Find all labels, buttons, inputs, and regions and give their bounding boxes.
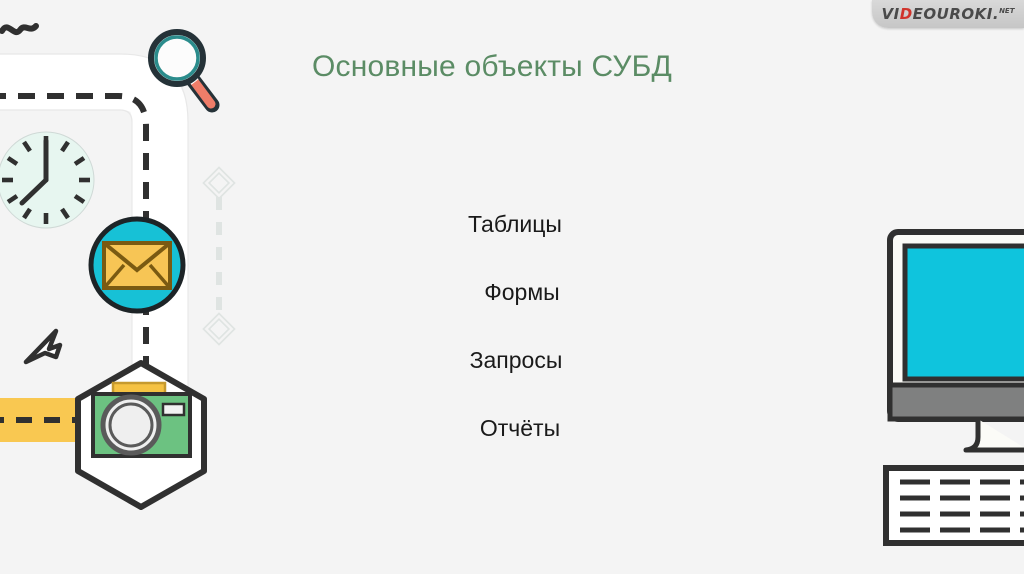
clock-icon xyxy=(0,132,94,228)
keyboard-icon xyxy=(886,468,1024,543)
page-title: Основные объекты СУБД xyxy=(312,50,912,84)
path-band-edge-inner xyxy=(0,110,132,430)
watermark-tld: NET xyxy=(999,7,1014,15)
slide-canvas: Основные объекты СУБД Таблицы Формы Запр… xyxy=(0,0,1024,574)
left-illustration xyxy=(0,0,270,574)
path-dashed-line xyxy=(0,96,146,430)
path-band-outer xyxy=(0,82,160,430)
watermark-part2: EOUROKI. xyxy=(913,5,999,23)
list-item-forms: Формы xyxy=(380,258,650,326)
right-illustration xyxy=(860,210,1024,574)
list-item-queries: Запросы xyxy=(380,326,650,394)
watermark-part1: VI xyxy=(882,5,900,23)
mail-badge-icon xyxy=(91,219,183,311)
magnifier-icon xyxy=(151,32,212,105)
list-item-tables: Таблицы xyxy=(380,190,650,258)
monitor-icon xyxy=(890,232,1024,450)
list-item-reports: Отчёты xyxy=(380,394,650,462)
cursor-icon xyxy=(26,331,60,362)
path-band-edge xyxy=(0,54,188,430)
squiggle-icon xyxy=(2,26,36,32)
dbms-objects-list: Таблицы Формы Запросы Отчёты xyxy=(380,190,650,462)
watermark-badge: VIDEOUROKI.NET xyxy=(872,0,1024,28)
yellow-band xyxy=(0,398,110,442)
dotted-connector xyxy=(203,167,234,344)
watermark-accent: D xyxy=(900,5,913,23)
camera-hexagon-icon xyxy=(78,363,204,507)
watermark-text: VIDEOUROKI.NET xyxy=(882,5,1015,23)
